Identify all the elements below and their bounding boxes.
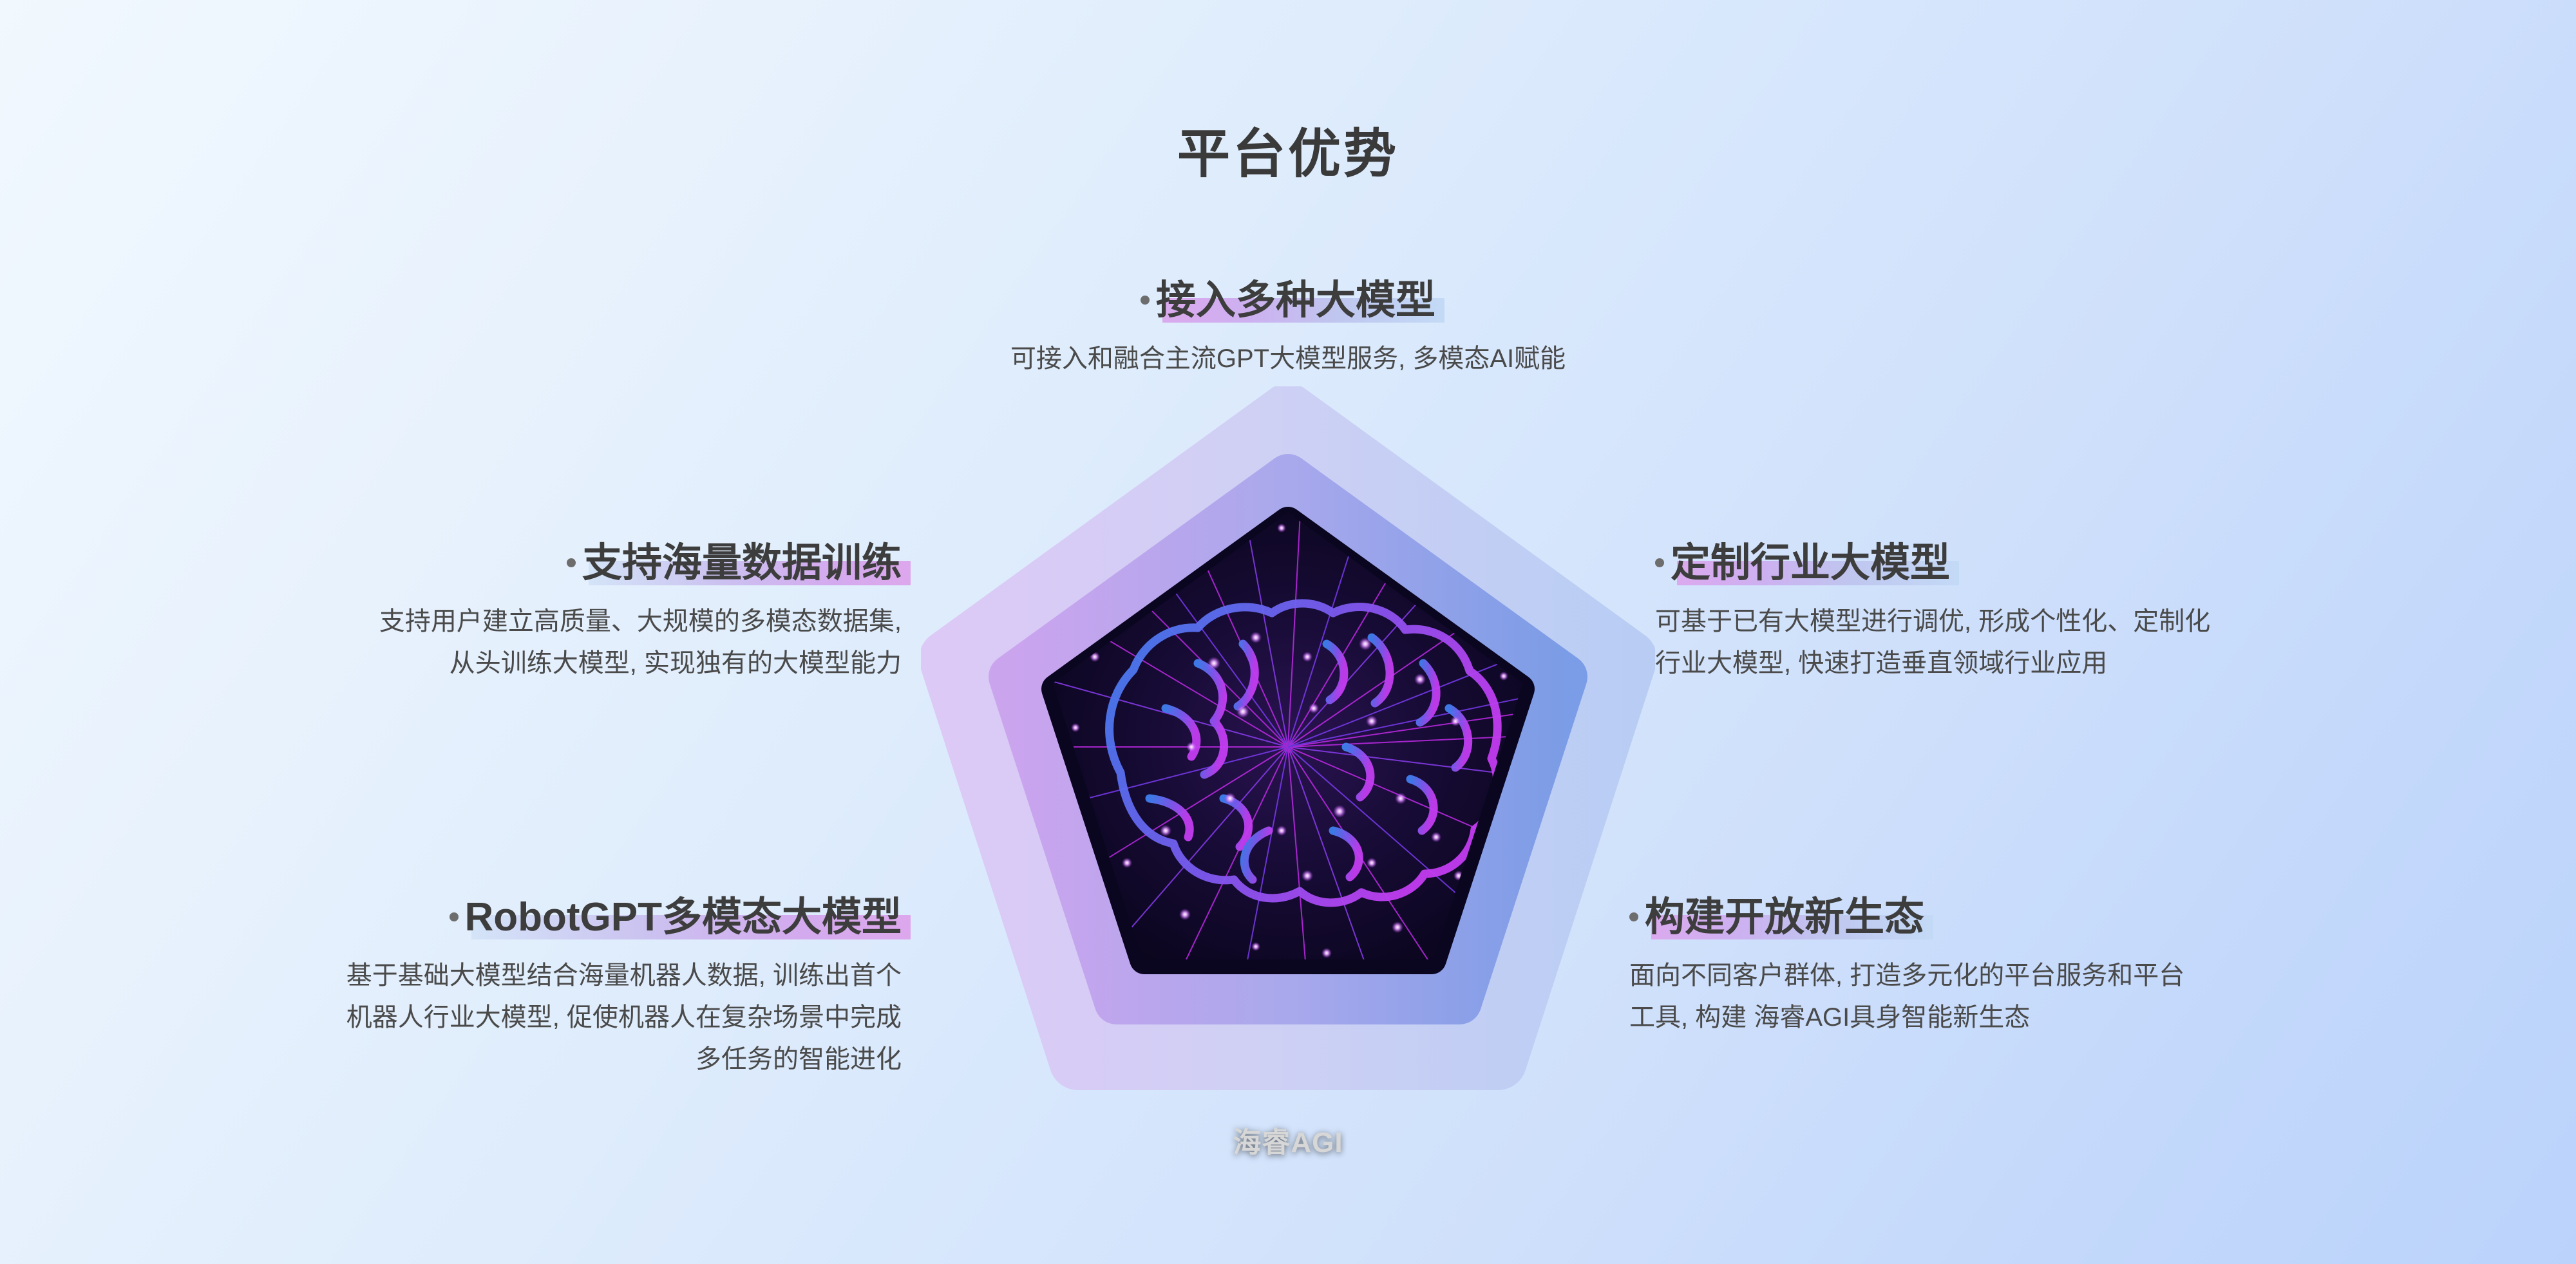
bullet-dot-icon	[1141, 296, 1150, 305]
bullet-dot-icon	[450, 912, 459, 921]
feature-heading: 接入多种大模型	[1141, 278, 1435, 324]
central-pentagon-graphic: 海睿AGI	[921, 386, 1655, 1095]
description-line: 可接入和融合主流GPT大模型服务, 多模态AI赋能	[0, 338, 2576, 380]
feature-description: 支持用户建立高质量、大规模的多模态数据集, 从头训练大模型, 实现独有的大模型能…	[109, 601, 902, 684]
feature-description: 可基于已有大模型进行调优, 形成个性化、定制化 行业大模型, 快速打造垂直领域行…	[1655, 601, 2467, 684]
feature-description: 面向不同客户群体, 打造多元化的平台服务和平台 工具, 构建 海睿AGI具身智能…	[1629, 955, 2460, 1039]
bullet-dot-icon	[1655, 558, 1664, 567]
description-line: 面向不同客户群体, 打造多元化的平台服务和平台	[1629, 955, 2460, 997]
description-line: 多任务的智能进化	[84, 1039, 902, 1080]
brain-network-icon	[921, 386, 1655, 1095]
description-line: 基于基础大模型结合海量机器人数据, 训练出首个	[84, 955, 902, 997]
description-line: 行业大模型, 快速打造垂直领域行业应用	[1655, 643, 2467, 684]
description-line: 支持用户建立高质量、大规模的多模态数据集,	[109, 601, 902, 643]
feature-custom-industry-model: 定制行业大模型 可基于已有大模型进行调优, 形成个性化、定制化 行业大模型, 快…	[1655, 541, 2467, 684]
feature-heading: 支持海量数据训练	[567, 541, 902, 587]
feature-multi-model-access: 接入多种大模型 可接入和融合主流GPT大模型服务, 多模态AI赋能	[0, 278, 2576, 380]
description-line: 工具, 构建 海睿AGI具身智能新生态	[1629, 997, 2460, 1039]
feature-description: 可接入和融合主流GPT大模型服务, 多模态AI赋能	[0, 338, 2576, 380]
feature-massive-data-training: 支持海量数据训练 支持用户建立高质量、大规模的多模态数据集, 从头训练大模型, …	[109, 541, 902, 684]
description-line: 机器人行业大模型, 促使机器人在复杂场景中完成	[84, 997, 902, 1039]
center-label: 海睿AGI	[921, 1119, 1655, 1160]
feature-heading: RobotGPT多模态大模型	[450, 895, 902, 941]
page-title: 平台优势	[0, 111, 2576, 187]
bullet-dot-icon	[567, 558, 576, 567]
description-line: 从头训练大模型, 实现独有的大模型能力	[109, 643, 902, 684]
feature-heading: 定制行业大模型	[1655, 541, 1950, 587]
feature-heading: 构建开放新生态	[1629, 895, 1924, 941]
feature-robotgpt-multimodal: RobotGPT多模态大模型 基于基础大模型结合海量机器人数据, 训练出首个 机…	[84, 895, 902, 1080]
feature-description: 基于基础大模型结合海量机器人数据, 训练出首个 机器人行业大模型, 促使机器人在…	[84, 955, 902, 1080]
description-line: 可基于已有大模型进行调优, 形成个性化、定制化	[1655, 601, 2467, 643]
feature-open-ecosystem: 构建开放新生态 面向不同客户群体, 打造多元化的平台服务和平台 工具, 构建 海…	[1629, 895, 2460, 1039]
bullet-dot-icon	[1629, 912, 1638, 921]
